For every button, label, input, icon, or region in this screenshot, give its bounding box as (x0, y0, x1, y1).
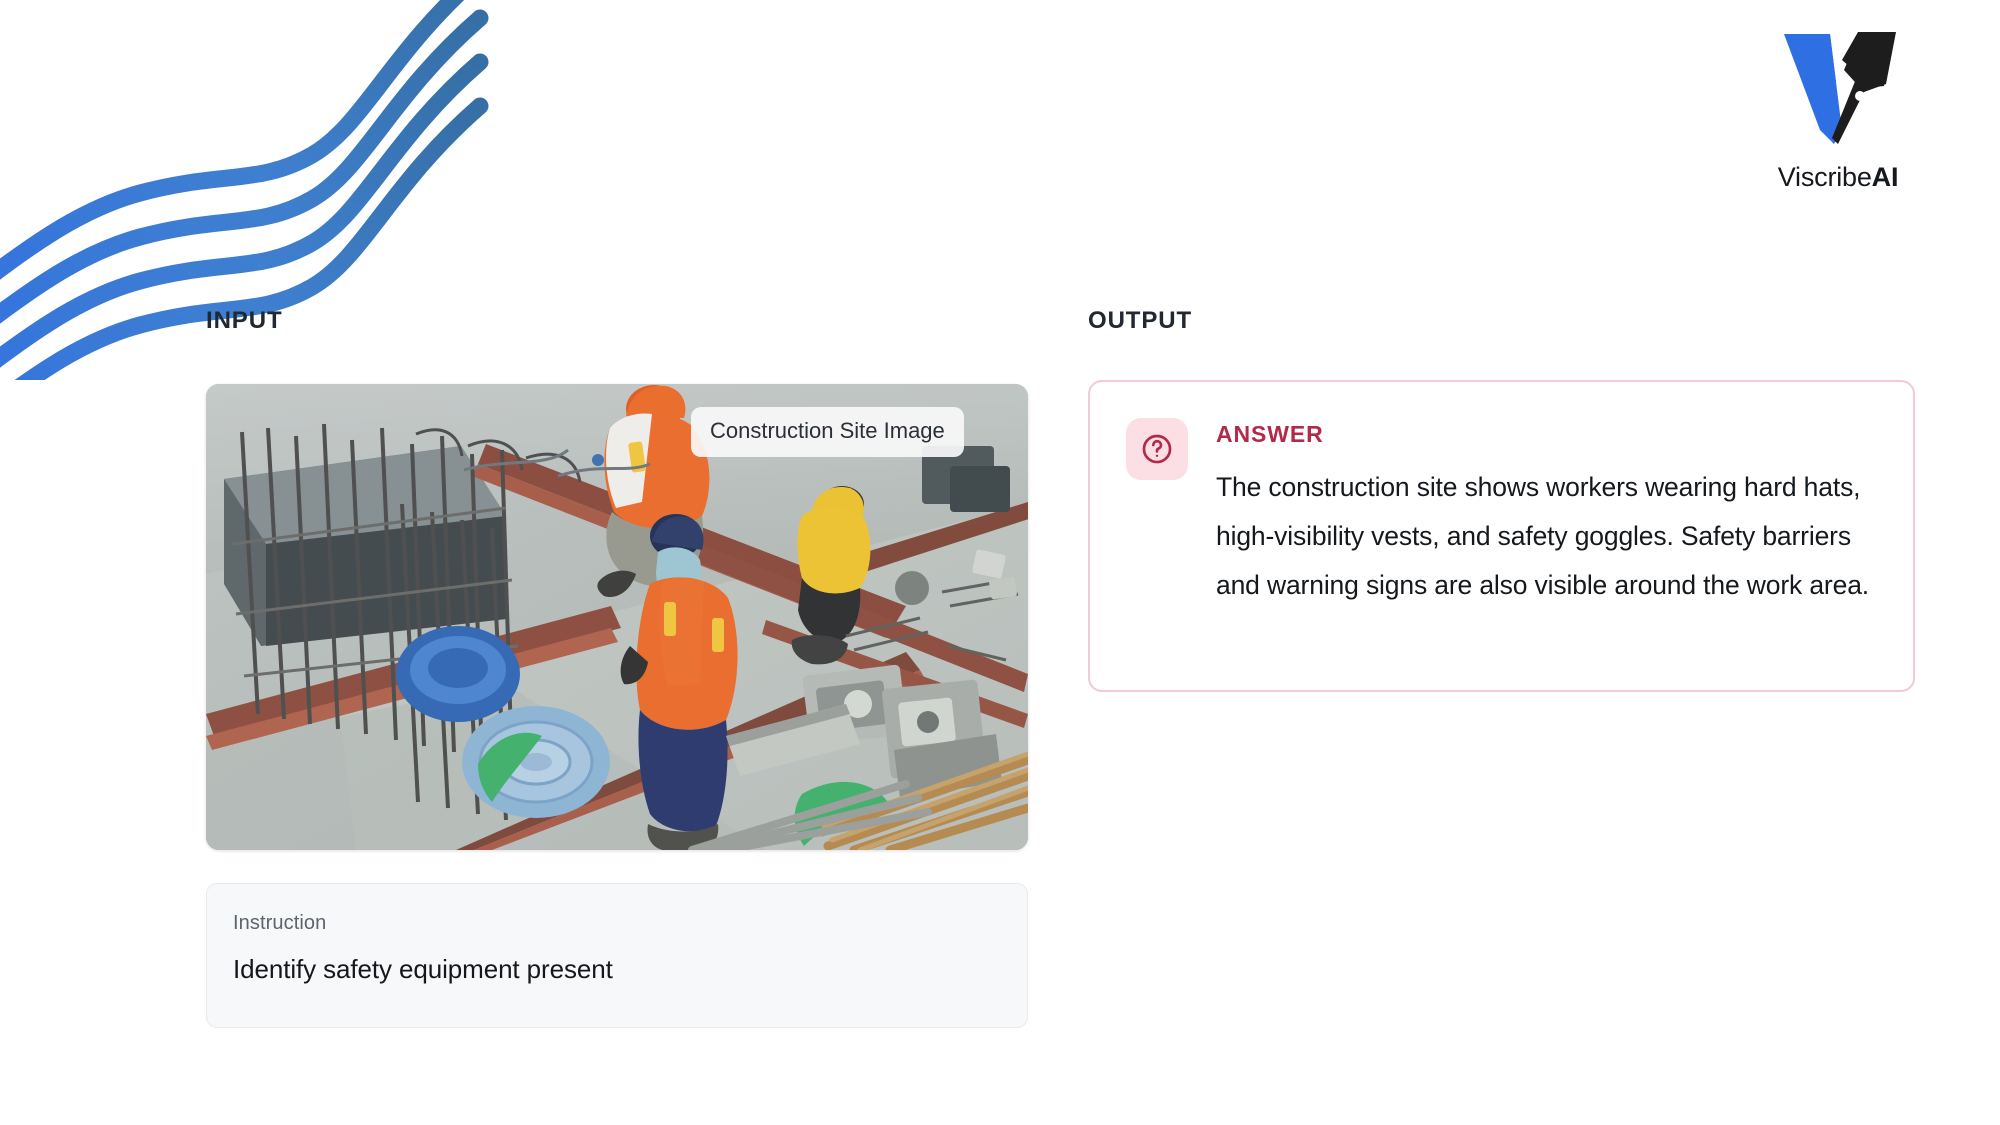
answer-title: ANSWER (1216, 421, 1879, 448)
instruction-label: Instruction (233, 912, 1001, 935)
question-mark-circle-icon (1126, 418, 1188, 480)
brand-name-light: Viscribe (1778, 162, 1872, 192)
brand-wordmark: ViscribeAI (1778, 162, 1899, 193)
brand-logo: ViscribeAI (1738, 26, 1938, 193)
wave-ribbons-decoration (0, 0, 580, 380)
input-column-label: INPUT (206, 307, 283, 335)
instruction-panel[interactable]: Instruction Identify safety equipment pr… (206, 883, 1028, 1028)
answer-card[interactable]: ANSWER The construction site shows worke… (1088, 380, 1915, 692)
answer-body: ANSWER The construction site shows worke… (1216, 418, 1879, 690)
image-caption-badge: Construction Site Image (691, 407, 964, 457)
slide-canvas: ViscribeAI INPUT OUTPUT (0, 0, 2000, 1125)
output-column-label: OUTPUT (1088, 307, 1192, 335)
input-image-card[interactable]: Construction Site Image (206, 384, 1028, 850)
brand-name-bold: AI (1872, 162, 1899, 192)
instruction-value: Identify safety equipment present (233, 954, 1001, 985)
answer-text: The construction site shows workers wear… (1216, 463, 1879, 610)
viscribe-v-pen-logo-icon (1772, 26, 1904, 148)
